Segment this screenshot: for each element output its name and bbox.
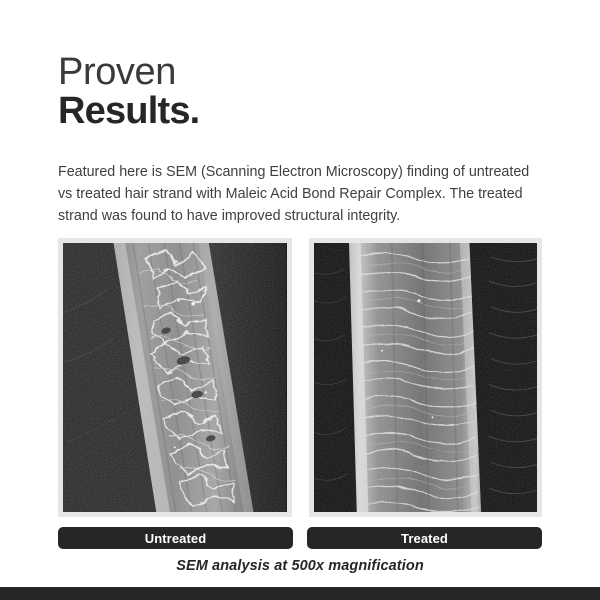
bottom-strip xyxy=(0,587,600,600)
magnification-caption: SEM analysis at 500x magnification xyxy=(0,558,600,574)
page-title-line-1: Proven xyxy=(58,54,199,91)
intro-paragraph: Featured here is SEM (Scanning Electron … xyxy=(58,162,546,227)
page-title-line-2: Results. xyxy=(58,93,199,130)
micrograph-image-treated xyxy=(314,243,538,512)
panel-label-group: Untreated Treated xyxy=(58,527,542,549)
label-text-untreated: Untreated xyxy=(145,531,207,546)
label-bar-untreated: Untreated xyxy=(58,527,293,549)
proven-results-page: Proven Results. Featured here is SEM (Sc… xyxy=(0,0,600,600)
micrograph-panel-treated xyxy=(309,238,543,517)
micrograph-panel-group xyxy=(58,238,542,517)
label-bar-treated: Treated xyxy=(307,527,542,549)
label-text-treated: Treated xyxy=(401,531,448,546)
sem-treated-illustration xyxy=(314,243,538,512)
micrograph-panel-untreated xyxy=(58,238,292,517)
page-title: Proven Results. xyxy=(58,54,199,130)
sem-untreated-illustration xyxy=(63,243,287,512)
micrograph-image-untreated xyxy=(63,243,287,512)
